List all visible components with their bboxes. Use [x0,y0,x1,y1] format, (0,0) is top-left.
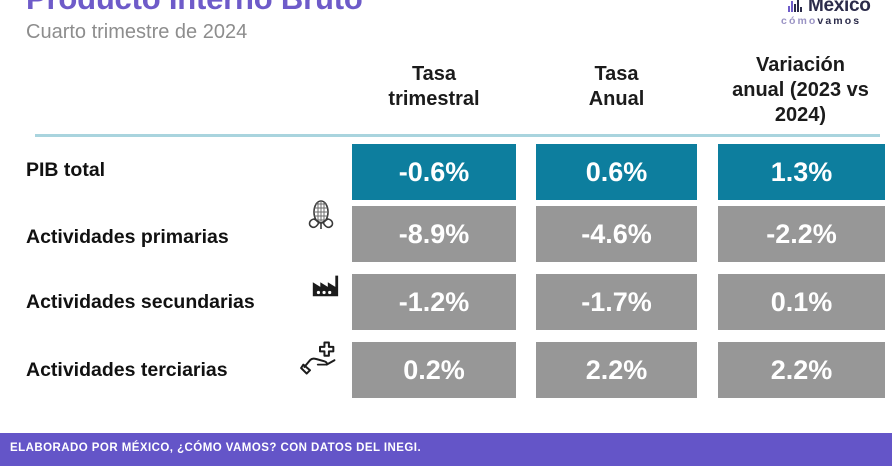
table-cell: 2.2% [718,342,885,398]
page-subtitle: Cuarto trimestre de 2024 [26,20,646,44]
column-header-line: Tasa [536,62,697,87]
table-cell: 0.2% [352,342,516,398]
column-header-variacion-anual: Variación anual (2023 vs 2024) [716,53,885,128]
brand-tagline-vamos: vamos [817,15,861,27]
row-label-actividades-terciarias: Actividades terciarias [26,359,228,382]
hand-cross-icon [300,340,340,380]
column-header-line: Anual [536,87,697,112]
brand-tagline-como: cómo [781,15,817,27]
table-cell: 2.2% [536,342,697,398]
page-header: Producto Interno Bruto Cuarto trimestre … [26,0,646,44]
column-header-tasa-trimestral: Tasa trimestral [352,62,516,112]
bar-chart-icon [788,0,802,12]
column-header-line: Variación [716,53,885,78]
brand-logo: México cómovamos [768,0,892,31]
table-cell: 0.6% [536,144,697,200]
column-header-line: 2024) [716,103,885,128]
factory-icon [310,270,344,304]
footer-bar: ELABORADO POR MÉXICO, ¿CÓMO VAMOS? CON D… [0,433,892,466]
table-cell: 1.3% [718,144,885,200]
table-cell: -1.7% [536,274,697,330]
table-cell: -2.2% [718,206,885,262]
corn-icon [305,199,339,233]
table-cell: -4.6% [536,206,697,262]
footer-credit-text: ELABORADO POR MÉXICO, ¿CÓMO VAMOS? CON D… [10,442,421,454]
column-header-line: anual (2023 vs [716,78,885,103]
column-header-line: trimestral [352,87,516,112]
row-label-actividades-primarias: Actividades primarias [26,226,229,249]
column-header-line: Tasa [352,62,516,87]
table-cell: -1.2% [352,274,516,330]
table-cell: -8.9% [352,206,516,262]
row-label-actividades-secundarias: Actividades secundarias [26,291,255,314]
brand-tagline: cómovamos [781,15,861,27]
column-header-tasa-anual: Tasa Anual [536,62,697,112]
table-cell: 0.1% [718,274,885,330]
table-cell: -0.6% [352,144,516,200]
page-title: Producto Interno Bruto [26,0,646,16]
row-label-pib-total: PIB total [26,159,105,182]
header-divider [35,134,880,137]
